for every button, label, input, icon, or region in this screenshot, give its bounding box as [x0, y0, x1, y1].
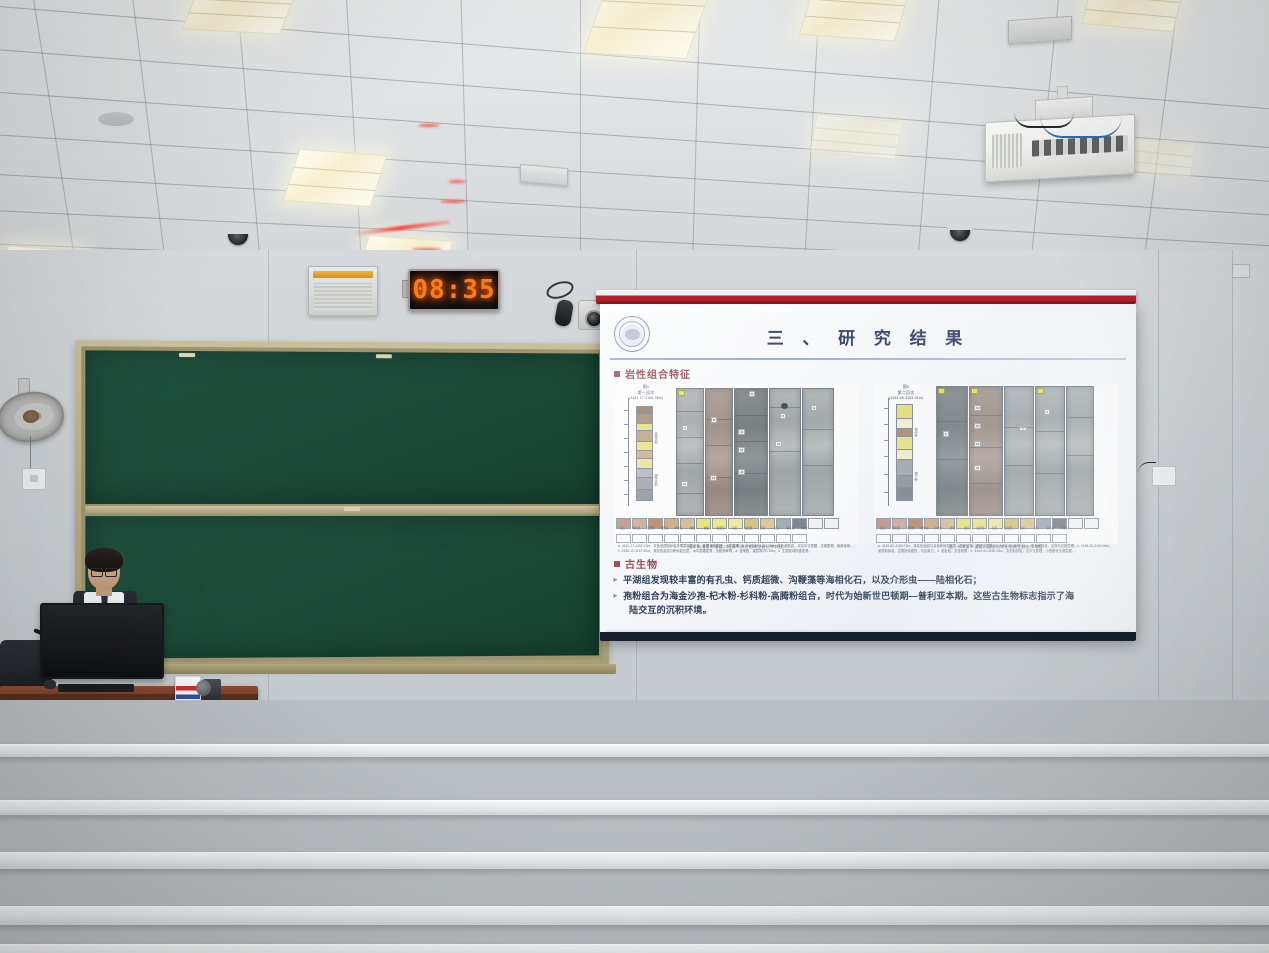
chalkboard-divider	[85, 506, 599, 514]
slide-title-rule	[610, 358, 1126, 360]
ceiling-light-panel	[809, 114, 903, 160]
core-log-column-right: 图2 第二回次 (4164.68-4153.61m) 潮间带	[878, 384, 934, 514]
chalkboard-panel-upper	[85, 350, 599, 504]
chalkboard-clip	[179, 353, 195, 357]
core-photo: d	[1035, 386, 1065, 516]
core-log-label-left-2: 潮坪沉积	[654, 474, 658, 486]
ceiling-speaker	[98, 112, 134, 126]
wall-fixture	[1232, 264, 1250, 278]
bullet-arrow-icon: ➤	[612, 593, 618, 600]
projector-cable-black	[1014, 112, 1074, 128]
core-log-depth-right: (4164.68-4153.61m)	[878, 396, 934, 400]
podium-monitor[interactable]	[40, 603, 164, 679]
ceiling-dome-camera	[950, 228, 970, 241]
fan-hub	[22, 409, 40, 424]
pen-holder	[203, 679, 221, 701]
bullet-arrow-icon: ➤	[612, 577, 618, 584]
ceiling-light-panel	[182, 0, 298, 35]
laser-light-dot	[440, 200, 466, 203]
core-log-label-right-1: 潮间带	[914, 428, 918, 437]
core-photo: D d1	[769, 388, 801, 516]
projector-ports	[1032, 135, 1128, 156]
wall-amplifier-unit[interactable]	[308, 266, 378, 316]
core-photo: E	[802, 388, 834, 516]
desk-row	[0, 800, 1269, 815]
core-photo: a	[936, 386, 968, 516]
chalkboard-clip	[376, 354, 392, 358]
ceiling-light-panel	[582, 0, 715, 59]
projection-screen-bottom-bar	[600, 632, 1136, 641]
core-log-depth-left: (4151.17-4160.35m)	[618, 396, 674, 400]
core-log-column-left: 图1 第一回次 (4151.17-4160.35m)	[618, 384, 674, 514]
ceiling-mounted-box	[1008, 16, 1072, 44]
core-photo: B b1	[705, 388, 733, 516]
keyboard[interactable]	[58, 684, 134, 692]
clock-time-display: 08:35	[412, 275, 495, 305]
slide-section-heading-lithology: 岩性组合特征	[614, 366, 691, 381]
laser-light-dot	[418, 124, 440, 127]
presenter-glasses	[91, 568, 117, 575]
figure-core-log-left: 图1 第一回次 (4151.17-4160.35m)	[614, 384, 858, 544]
desk-row	[0, 744, 1269, 757]
laser-light-dot	[448, 180, 466, 183]
sedimentary-structure-legend	[616, 534, 807, 543]
lithology-legend-labels: 泥岩粉砂质泥质粉细砂岩中砂岩含煤煤层炭质泥灰质白云质泥灰灰岩取心段未取心	[876, 528, 1071, 531]
ceiling-mounted-box	[520, 164, 568, 186]
slide-title: 三 、 研 究 结 果	[600, 324, 1136, 349]
ceiling-dome-camera	[228, 232, 248, 245]
wall-outlet[interactable]	[22, 468, 46, 490]
projection-screen-valance	[596, 290, 1136, 304]
slide-bullet-text: 平湖组发现较丰富的有孔虫、钙质超微、沟鞭藻等海相化石，以及介形虫——陆相化石；	[623, 575, 982, 585]
core-photo: A a1	[676, 388, 704, 516]
figure-caption-right: 图7 东海区平湖组二段潮间缘亚相典型岩心学特征	[874, 544, 1118, 550]
core-photo	[1066, 386, 1094, 516]
slide-bullet-list: ➤平湖组发现较丰富的有孔虫、钙质超微、沟鞭藻等海相化石，以及介形虫——陆相化石；…	[612, 574, 1126, 618]
amplifier-indicator-strip	[313, 271, 373, 278]
fan-pull-cord	[30, 436, 31, 470]
core-photo: C c1 c2 c3	[734, 388, 768, 516]
slide-bullet-item: ➤平湖组发现较丰富的有孔虫、钙质超微、沟鞭藻等海相化石，以及介形虫——陆相化石；	[612, 574, 1126, 588]
amplifier-grill	[314, 283, 372, 310]
core-photo: c	[1004, 386, 1034, 516]
slide-bullet-item: ➤孢粉组合为海金沙孢-杞木粉-杉科粉-高腾粉组合，时代为始新世巴顿期—普利亚本期…	[612, 590, 1126, 604]
ceiling-light-panel	[799, 0, 911, 41]
desk-row	[0, 944, 1269, 953]
digital-wall-clock: 08:35	[408, 269, 500, 311]
lecture-hall-photo: 08:35 三 、 研 究 结 果 岩性组合特征 图1	[0, 0, 1269, 953]
desk-row	[0, 852, 1269, 869]
slide-bullet-text: 孢粉组合为海金沙孢-杞木粉-杉科粉-高腾粉组合，时代为始新世巴顿期—普利亚本期。…	[623, 591, 1074, 601]
projection-screen: 三 、 研 究 结 果 岩性组合特征 图1 第一回次 (4151.17-4160…	[600, 304, 1136, 638]
projector-vent	[992, 133, 1022, 169]
chalkboard-clip	[344, 507, 360, 511]
mouse[interactable]	[44, 680, 56, 689]
core-log-label-left-1: 海相沉积	[654, 432, 658, 444]
ceiling-light-panel	[1081, 0, 1184, 32]
figure-core-log-right: 图2 第二回次 (4164.68-4153.61m) 潮间带	[874, 384, 1118, 544]
presentation-slide: 三 、 研 究 结 果 岩性组合特征 图1 第一回次 (4151.17-4160…	[600, 304, 1136, 638]
core-photo: b1 b2 b3 b4	[969, 386, 1003, 516]
desk-row	[0, 906, 1269, 925]
sedimentary-structure-legend	[876, 534, 1067, 543]
audience-seating-area	[0, 700, 1269, 953]
lithology-legend-labels: 泥岩粉砂质泥质粉细砂岩中砂岩含煤煤层炭质泥灰质白云质泥灰灰岩取心段未取心	[616, 528, 811, 531]
slide-bullet-item-continued: 陆交互的沉积环境。	[612, 604, 1126, 618]
ceiling-light-panel	[283, 149, 388, 207]
core-log-label-right-2: 潮下带	[914, 472, 918, 481]
slide-section-heading-paleontology: 古生物	[614, 556, 658, 571]
figure-caption-left: 图6 东海区平湖组二段湖平原亚相典型岩心学特征	[614, 544, 858, 550]
